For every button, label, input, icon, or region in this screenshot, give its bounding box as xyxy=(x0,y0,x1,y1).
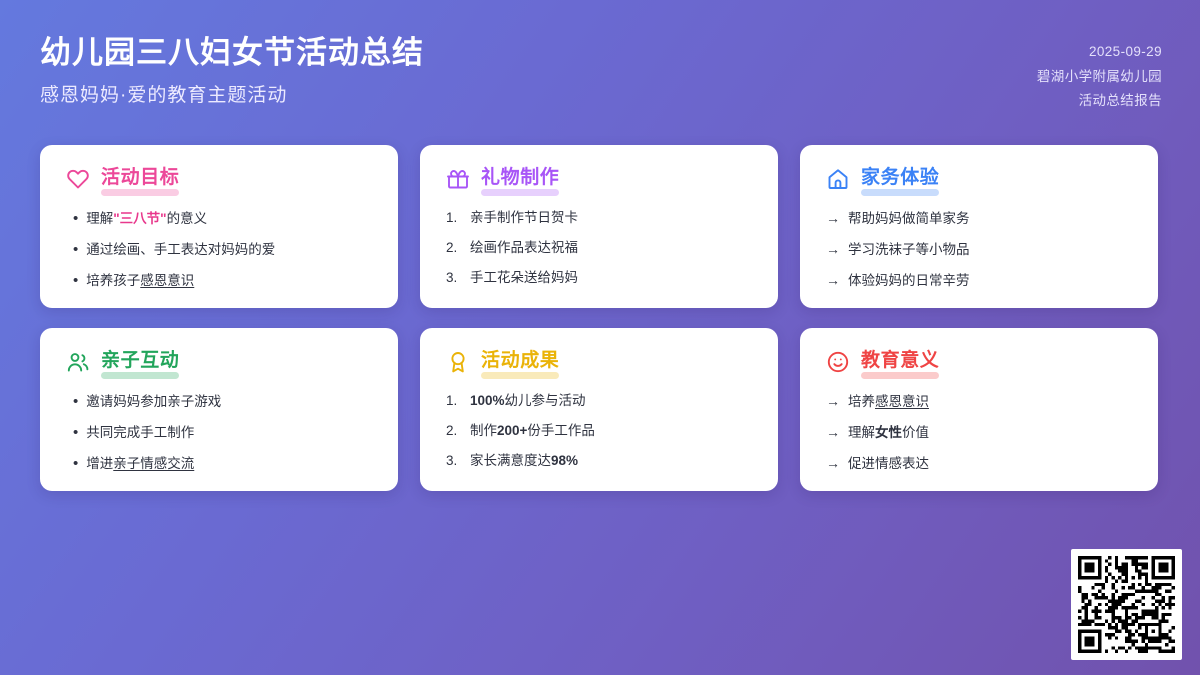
card-list: •理解"三八节"的意义•通过绘画、手工表达对妈妈的爱•培养孩子感恩意识 xyxy=(66,205,374,296)
list-item-text: 体验妈妈的日常辛劳 xyxy=(848,271,970,292)
list-item-text: 增进亲子情感交流 xyxy=(86,454,194,475)
list-item: →帮助妈妈做简单家务 xyxy=(826,205,1134,234)
list-marker-bullet: • xyxy=(66,391,78,412)
list-item-text: 100%幼儿参与活动 xyxy=(470,391,586,412)
list-item-text: 培养孩子感恩意识 xyxy=(86,271,194,292)
list-item: 2.绘画作品表达祝福 xyxy=(446,235,754,263)
card-教育意义: 教育意义→培养感恩意识→理解女性价值→促进情感表达 xyxy=(800,328,1158,491)
header-left: 幼儿园三八妇女节活动总结 感恩妈妈·爱的教育主题活动 xyxy=(40,34,424,108)
card-title: 家务体验 xyxy=(861,167,939,192)
list-item: 2.制作200+份手工作品 xyxy=(446,418,754,446)
card-header: 亲子互动 xyxy=(66,350,374,375)
arrow-icon: → xyxy=(826,391,840,413)
card-礼物制作: 礼物制作1.亲手制作节日贺卡2.绘画作品表达祝福3.手工花朵送给妈妈 xyxy=(420,145,778,308)
list-item: •共同完成手工制作 xyxy=(66,419,374,448)
arrow-icon: → xyxy=(826,422,840,444)
list-item-text: 手工花朵送给妈妈 xyxy=(470,268,578,289)
list-item-text: 亲手制作节日贺卡 xyxy=(470,208,578,229)
list-marker-number: 1. xyxy=(446,208,462,229)
list-item-text: 学习洗袜子等小物品 xyxy=(848,240,970,261)
heart-icon xyxy=(66,167,90,191)
smile-icon xyxy=(826,350,850,374)
card-家务体验: 家务体验→帮助妈妈做简单家务→学习洗袜子等小物品→体验妈妈的日常辛劳 xyxy=(800,145,1158,308)
card-活动成果: 活动成果1.100%幼儿参与活动2.制作200+份手工作品3.家长满意度达98% xyxy=(420,328,778,491)
award-icon xyxy=(446,350,470,374)
slide-root: 幼儿园三八妇女节活动总结 感恩妈妈·爱的教育主题活动 2025-09-29 碧湖… xyxy=(0,0,1200,675)
list-item-text: 促进情感表达 xyxy=(848,454,929,475)
meta-date: 2025-09-29 xyxy=(1037,42,1162,62)
list-marker-number: 1. xyxy=(446,391,462,412)
list-item: •增进亲子情感交流 xyxy=(66,450,374,479)
card-header: 活动成果 xyxy=(446,350,754,375)
list-item: →促进情感表达 xyxy=(826,450,1134,479)
arrow-icon: → xyxy=(826,270,840,292)
list-item: →学习洗袜子等小物品 xyxy=(826,236,1134,265)
list-marker-number: 2. xyxy=(446,238,462,259)
list-marker-bullet: • xyxy=(66,208,78,229)
list-item-text: 绘画作品表达祝福 xyxy=(470,238,578,259)
page-subtitle: 感恩妈妈·爱的教育主题活动 xyxy=(40,84,424,109)
card-亲子互动: 亲子互动•邀请妈妈参加亲子游戏•共同完成手工制作•增进亲子情感交流 xyxy=(40,328,398,491)
card-list: •邀请妈妈参加亲子游戏•共同完成手工制作•增进亲子情感交流 xyxy=(66,388,374,479)
list-item-text: 帮助妈妈做简单家务 xyxy=(848,209,970,230)
card-list: →培养感恩意识→理解女性价值→促进情感表达 xyxy=(826,388,1134,479)
list-marker-bullet: • xyxy=(66,453,78,474)
header-meta: 2025-09-29 碧湖小学附属幼儿园 活动总结报告 xyxy=(1037,34,1162,111)
list-marker-number: 2. xyxy=(446,421,462,442)
list-item-text: 家长满意度达98% xyxy=(470,451,578,472)
list-item-text: 通过绘画、手工表达对妈妈的爱 xyxy=(86,240,275,261)
list-item-text: 培养感恩意识 xyxy=(848,392,929,413)
list-item: •通过绘画、手工表达对妈妈的爱 xyxy=(66,236,374,265)
list-marker-number: 3. xyxy=(446,451,462,472)
list-item: •培养孩子感恩意识 xyxy=(66,267,374,296)
gift-icon xyxy=(446,167,470,191)
arrow-icon: → xyxy=(826,208,840,230)
card-header: 礼物制作 xyxy=(446,167,754,192)
card-header: 活动目标 xyxy=(66,167,374,192)
list-item-text: 理解女性价值 xyxy=(848,423,929,444)
card-title: 活动成果 xyxy=(481,350,559,375)
list-marker-number: 3. xyxy=(446,268,462,289)
qr-code[interactable] xyxy=(1071,549,1182,660)
card-list: 1.100%幼儿参与活动2.制作200+份手工作品3.家长满意度达98% xyxy=(446,388,754,476)
list-marker-bullet: • xyxy=(66,270,78,291)
arrow-icon: → xyxy=(826,453,840,475)
qr-code-image xyxy=(1078,556,1175,653)
card-grid: 活动目标•理解"三八节"的意义•通过绘画、手工表达对妈妈的爱•培养孩子感恩意识礼… xyxy=(40,145,1160,491)
list-marker-bullet: • xyxy=(66,422,78,443)
list-item-text: 邀请妈妈参加亲子游戏 xyxy=(86,392,221,413)
page-title: 幼儿园三八妇女节活动总结 xyxy=(40,34,424,73)
card-title: 亲子互动 xyxy=(101,350,179,375)
list-item: 3.手工花朵送给妈妈 xyxy=(446,265,754,293)
card-list: →帮助妈妈做简单家务→学习洗袜子等小物品→体验妈妈的日常辛劳 xyxy=(826,205,1134,296)
list-item: •理解"三八节"的意义 xyxy=(66,205,374,234)
card-活动目标: 活动目标•理解"三八节"的意义•通过绘画、手工表达对妈妈的爱•培养孩子感恩意识 xyxy=(40,145,398,308)
slide-header: 幼儿园三八妇女节活动总结 感恩妈妈·爱的教育主题活动 2025-09-29 碧湖… xyxy=(0,0,1200,130)
list-item-text: 制作200+份手工作品 xyxy=(470,421,595,442)
list-item: 1.100%幼儿参与活动 xyxy=(446,388,754,416)
card-title: 礼物制作 xyxy=(481,167,559,192)
arrow-icon: → xyxy=(826,239,840,261)
card-header: 教育意义 xyxy=(826,350,1134,375)
list-item: →体验妈妈的日常辛劳 xyxy=(826,267,1134,296)
list-item: 1.亲手制作节日贺卡 xyxy=(446,205,754,233)
list-item: →理解女性价值 xyxy=(826,419,1134,448)
card-title: 教育意义 xyxy=(861,350,939,375)
meta-doc-type: 活动总结报告 xyxy=(1037,91,1162,111)
meta-organization: 碧湖小学附属幼儿园 xyxy=(1037,67,1162,87)
card-header: 家务体验 xyxy=(826,167,1134,192)
list-item: •邀请妈妈参加亲子游戏 xyxy=(66,388,374,417)
users-icon xyxy=(66,350,90,374)
card-title: 活动目标 xyxy=(101,167,179,192)
list-item-text: 理解"三八节"的意义 xyxy=(86,209,207,230)
list-item-text: 共同完成手工制作 xyxy=(86,423,194,444)
list-item: 3.家长满意度达98% xyxy=(446,448,754,476)
list-marker-bullet: • xyxy=(66,239,78,260)
card-list: 1.亲手制作节日贺卡2.绘画作品表达祝福3.手工花朵送给妈妈 xyxy=(446,205,754,293)
home-icon xyxy=(826,167,850,191)
list-item: →培养感恩意识 xyxy=(826,388,1134,417)
